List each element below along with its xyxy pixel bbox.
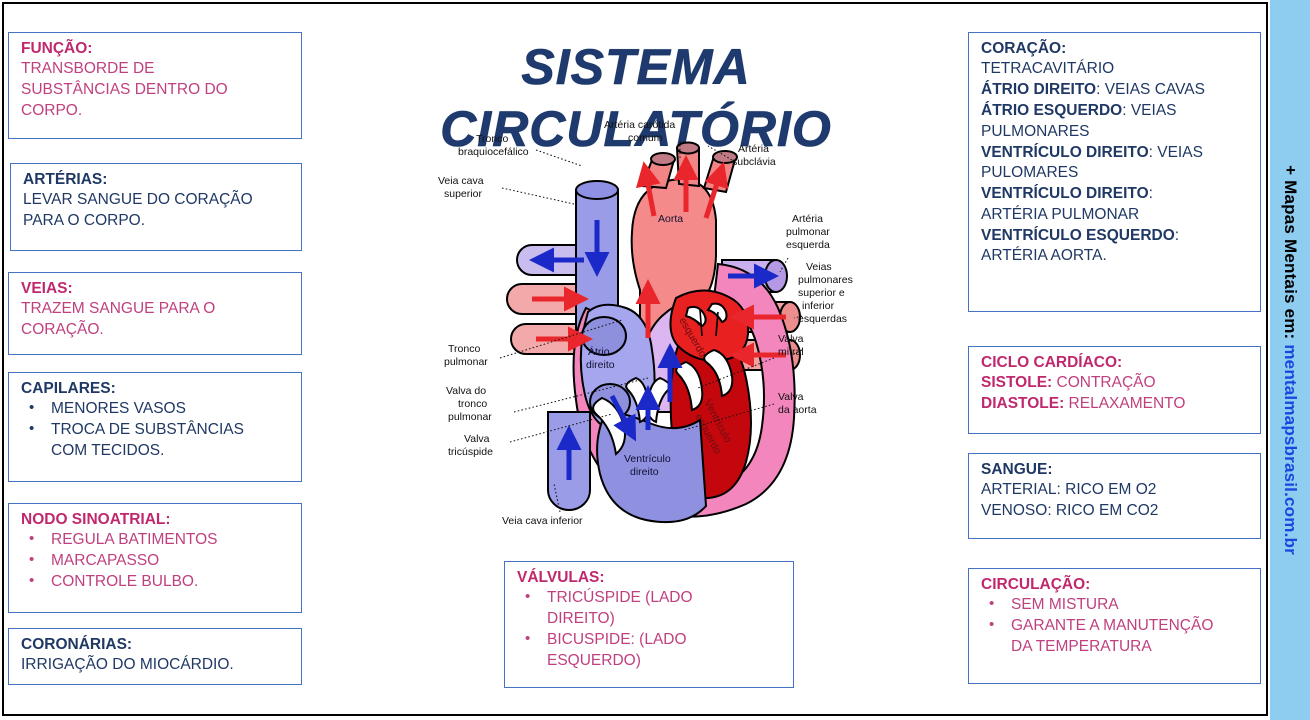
panel-funcao-line-2: SUBSTÂNCIAS DENTRO DO	[21, 80, 291, 101]
panel-nodo-bullet-1: REGULA BATIMENTOS	[51, 531, 218, 548]
panel-valvulas-list: TRICÚSPIDE (LADO DIREITO) BICUSPIDE: (LA…	[517, 588, 783, 671]
list-item: TROCA DE SUBSTÂNCIAS COM TECIDOS.	[21, 420, 291, 462]
diagram-label-valva-tricuspide-2: tricúspide	[448, 446, 493, 458]
diagram-label-atrio-direito-2: direito	[586, 359, 615, 371]
panel-coracao-row-2: ÁTRIO DIREITO: VEIAS CAVAS	[981, 80, 1250, 101]
panel-nodo-title: NODO SINOATRIAL:	[21, 510, 291, 530]
diagram-label-veias-pulmonares-5: esquerdas	[798, 313, 847, 325]
diagram-label-veia-cava-superior-1: Veia cava	[438, 175, 484, 187]
diagram-label-veia-cava-inferior: Veia cava inferior	[502, 515, 583, 527]
diagram-label-atrio-direito-1: Átrio	[588, 345, 610, 358]
panel-capilares-list: MENORES VASOS TROCA DE SUBSTÂNCIAS COM T…	[21, 399, 291, 461]
panel-valvulas: VÁLVULAS: TRICÚSPIDE (LADO DIREITO) BICU…	[504, 561, 794, 688]
diagram-label-arteria-pulmonar-esquerda-2: pulmonar	[786, 226, 830, 238]
diagram-label-valva-mitral-2: mitral	[778, 346, 804, 358]
panel-nodo-bullet-3: CONTROLE BULBO.	[51, 573, 198, 590]
panel-funcao: FUNÇÃO: TRANSBORDE DE SUBSTÂNCIAS DENTRO…	[8, 32, 302, 139]
panel-coracao: CORAÇÃO: TETRACAVITÁRIO ÁTRIO DIREITO: V…	[968, 32, 1261, 312]
panel-ciclo-title: CICLO CARDÍACO:	[981, 353, 1250, 373]
panel-coracao-line-1: TETRACAVITÁRIO	[981, 59, 1250, 80]
diagram-label-ventriculo-direito-1: Ventrículo	[624, 453, 671, 465]
panel-coracao-val-3: : VEIAS	[1122, 102, 1176, 119]
panel-ciclo-key-2: DIASTOLE:	[981, 395, 1064, 412]
panel-capilares-title: CAPILARES:	[21, 379, 291, 399]
diagram-label-veia-cava-superior-2: superior	[444, 188, 482, 200]
panel-sangue: SANGUE: ARTERIAL: RICO EM O2 VENOSO: RIC…	[968, 453, 1261, 539]
panel-funcao-title: FUNÇÃO:	[21, 39, 291, 59]
list-item: MENORES VASOS	[21, 399, 291, 420]
panel-arterias-line-2: PARA O CORPO.	[23, 211, 291, 232]
panel-capilares-bullet-2b: COM TECIDOS.	[51, 442, 164, 459]
panel-coracao-val-5: :	[1149, 185, 1153, 202]
panel-coracao-line-6b: ARTÉRIA AORTA.	[981, 246, 1250, 267]
panel-valvulas-bullet-1a: TRICÚSPIDE (LADO	[547, 589, 693, 606]
panel-valvulas-bullet-1b: DIREITO)	[547, 610, 615, 627]
panel-valvulas-bullet-2a: BICUSPIDE: (LADO	[547, 631, 687, 648]
panel-ciclo-row-1: SISTOLE: CONTRAÇÃO	[981, 373, 1250, 394]
panel-sangue-line-1: ARTERIAL: RICO EM O2	[981, 480, 1250, 501]
panel-coracao-row-5: VENTRÍCULO DIREITO:	[981, 184, 1250, 205]
diagram-label-arteria-carotida-2: comum	[628, 132, 663, 144]
diagram-label-tronco-braquiocefalico-2: braquiocefálico	[458, 146, 529, 158]
diagram-label-veias-pulmonares-1: Veias	[806, 261, 832, 273]
panel-arterias: ARTÉRIAS: LEVAR SANGUE DO CORAÇÃO PARA O…	[10, 163, 302, 251]
panel-coracao-key-2: ÁTRIO DIREITO	[981, 81, 1096, 98]
panel-circulacao-bullet-2b: DA TEMPERATURA	[1011, 638, 1152, 655]
panel-circulacao-title: CIRCULAÇÃO:	[981, 575, 1250, 595]
list-item: TRICÚSPIDE (LADO DIREITO)	[517, 588, 783, 630]
panel-coracao-line-4b: PULOMARES	[981, 163, 1250, 184]
panel-coracao-key-3: ÁTRIO ESQUERDO	[981, 102, 1122, 119]
list-item: CONTROLE BULBO.	[21, 572, 291, 593]
panel-ciclo-cardiaco: CICLO CARDÍACO: SISTOLE: CONTRAÇÃO DIAST…	[968, 346, 1261, 434]
panel-coracao-key-4: VENTRÍCULO DIREITO	[981, 144, 1149, 161]
panel-coracao-key-5: VENTRÍCULO DIREITO	[981, 185, 1149, 202]
promo-text: + Mapas Mentais em: mentalmapsbrasil.com…	[1280, 165, 1300, 555]
panel-coracao-row-3: ÁTRIO ESQUERDO: VEIAS	[981, 101, 1250, 122]
panel-coracao-line-3b: PULMONARES	[981, 122, 1250, 143]
diagram-label-tronco-pulmonar-2: pulmonar	[444, 356, 488, 368]
diagram-label-valva-tronco-pulmonar-3: pulmonar	[448, 411, 492, 423]
panel-coracao-title: CORAÇÃO:	[981, 39, 1250, 59]
diagram-label-valva-aorta-1: Valva	[778, 391, 804, 403]
diagram-label-arteria-pulmonar-esquerda-3: esquerda	[786, 239, 830, 251]
diagram-label-valva-aorta-2: da aorta	[778, 404, 817, 416]
panel-nodo-list: REGULA BATIMENTOS MARCAPASSO CONTROLE BU…	[21, 530, 291, 592]
promo-prefix: + Mapas Mentais em:	[1281, 165, 1300, 344]
panel-coracao-val-4: : VEIAS	[1149, 144, 1203, 161]
panel-sangue-line-2: VENOSO: RICO EM CO2	[981, 501, 1250, 522]
panel-veias: VEIAS: TRAZEM SANGUE PARA O CORAÇÃO.	[8, 272, 302, 355]
diagram-label-veias-pulmonares-2: pulmonares	[798, 274, 853, 286]
panel-circulacao-bullet-1: SEM MISTURA	[1011, 596, 1119, 613]
panel-coracao-val-6: :	[1175, 227, 1179, 244]
list-item: SEM MISTURA	[981, 595, 1250, 616]
panel-ciclo-val-1: CONTRAÇÃO	[1052, 374, 1155, 391]
panel-coronarias-line-1: IRRIGAÇÃO DO MIOCÁRDIO.	[21, 655, 291, 676]
diagram-label-veias-pulmonares-3: superior e	[798, 287, 845, 299]
promo-site-link[interactable]: mentalmapsbrasil.com.br	[1281, 344, 1300, 555]
panel-coracao-row-6: VENTRÍCULO ESQUERDO:	[981, 226, 1250, 247]
list-item: BICUSPIDE: (LADO ESQUERDO)	[517, 630, 783, 672]
panel-ciclo-row-2: DIASTOLE: RELAXAMENTO	[981, 394, 1250, 415]
panel-arterias-line-1: LEVAR SANGUE DO CORAÇÃO	[23, 190, 291, 211]
panel-coracao-key-6: VENTRÍCULO ESQUERDO	[981, 227, 1175, 244]
diagram-label-valva-mitral-1: Valva	[778, 333, 804, 345]
panel-veias-line-1: TRAZEM SANGUE PARA O	[21, 299, 291, 320]
diagram-label-aorta: Aorta	[658, 213, 683, 225]
panel-coronarias-title: CORONÁRIAS:	[21, 635, 291, 655]
panel-nodo-sinoatrial: NODO SINOATRIAL: REGULA BATIMENTOS MARCA…	[8, 503, 302, 613]
heart-diagram: Ventrículo esquerdo Átrio esquerdo Átrio…	[436, 112, 876, 542]
diagram-label-tronco-braquiocefalico-1: Tronco	[476, 133, 508, 145]
panel-capilares: CAPILARES: MENORES VASOS TROCA DE SUBSTÂ…	[8, 372, 302, 482]
panel-valvulas-bullet-2b: ESQUERDO)	[547, 652, 641, 669]
panel-veias-line-2: CORAÇÃO.	[21, 320, 291, 341]
diagram-label-arteria-pulmonar-esquerda-1: Artéria	[792, 213, 823, 225]
panel-valvulas-title: VÁLVULAS:	[517, 568, 783, 588]
panel-capilares-bullet-1: MENORES VASOS	[51, 400, 186, 417]
panel-coronarias: CORONÁRIAS: IRRIGAÇÃO DO MIOCÁRDIO.	[8, 628, 302, 685]
panel-arterias-title: ARTÉRIAS:	[23, 170, 291, 190]
list-item: GARANTE A MANUTENÇÃO DA TEMPERATURA	[981, 616, 1250, 658]
diagram-label-veias-pulmonares-4: inferior	[802, 300, 835, 312]
panel-sangue-title: SANGUE:	[981, 460, 1250, 480]
panel-ciclo-val-2: RELAXAMENTO	[1064, 395, 1185, 412]
panel-funcao-line-1: TRANSBORDE DE	[21, 59, 291, 80]
infographic-page: SISTEMA CIRCULATÓRIO FUNÇÃO: TRANSBORDE …	[0, 0, 1310, 720]
diagram-label-arteria-carotida-1: Artéria carótida	[604, 119, 675, 131]
diagram-label-ventriculo-direito-2: direito	[630, 466, 659, 478]
panel-ciclo-key-1: SISTOLE:	[981, 374, 1052, 391]
panel-nodo-bullet-2: MARCAPASSO	[51, 552, 159, 569]
chamber-left-atrium: Átrio esquerdo	[670, 290, 748, 360]
panel-coracao-row-4: VENTRÍCULO DIREITO: VEIAS	[981, 143, 1250, 164]
diagram-label-valva-tronco-pulmonar-2: tronco	[458, 398, 487, 410]
list-item: MARCAPASSO	[21, 551, 291, 572]
diagram-label-valva-tricuspide-1: Valva	[464, 433, 490, 445]
promo-band: + Mapas Mentais em: mentalmapsbrasil.com…	[1270, 0, 1310, 720]
panel-coracao-val-2: : VEIAS CAVAS	[1096, 81, 1205, 98]
panel-capilares-bullet-2a: TROCA DE SUBSTÂNCIAS	[51, 421, 244, 438]
panel-coracao-line-5b: ARTÉRIA PULMONAR	[981, 205, 1250, 226]
panel-veias-title: VEIAS:	[21, 279, 291, 299]
diagram-label-tronco-pulmonar-1: Tronco	[448, 343, 480, 355]
page-title: SISTEMA CIRCULATÓRIO	[336, 36, 936, 98]
diagram-label-arteria-subclavia-2: subclávia	[732, 156, 776, 168]
diagram-label-valva-tronco-pulmonar-1: Valva do	[446, 385, 486, 397]
diagram-label-arteria-subclavia-1: Artéria	[738, 143, 769, 155]
panel-funcao-line-3: CORPO.	[21, 101, 291, 122]
panel-circulacao-bullet-2a: GARANTE A MANUTENÇÃO	[1011, 617, 1213, 634]
list-item: REGULA BATIMENTOS	[21, 530, 291, 551]
panel-circulacao-list: SEM MISTURA GARANTE A MANUTENÇÃO DA TEMP…	[981, 595, 1250, 657]
panel-circulacao: CIRCULAÇÃO: SEM MISTURA GARANTE A MANUTE…	[968, 568, 1261, 684]
